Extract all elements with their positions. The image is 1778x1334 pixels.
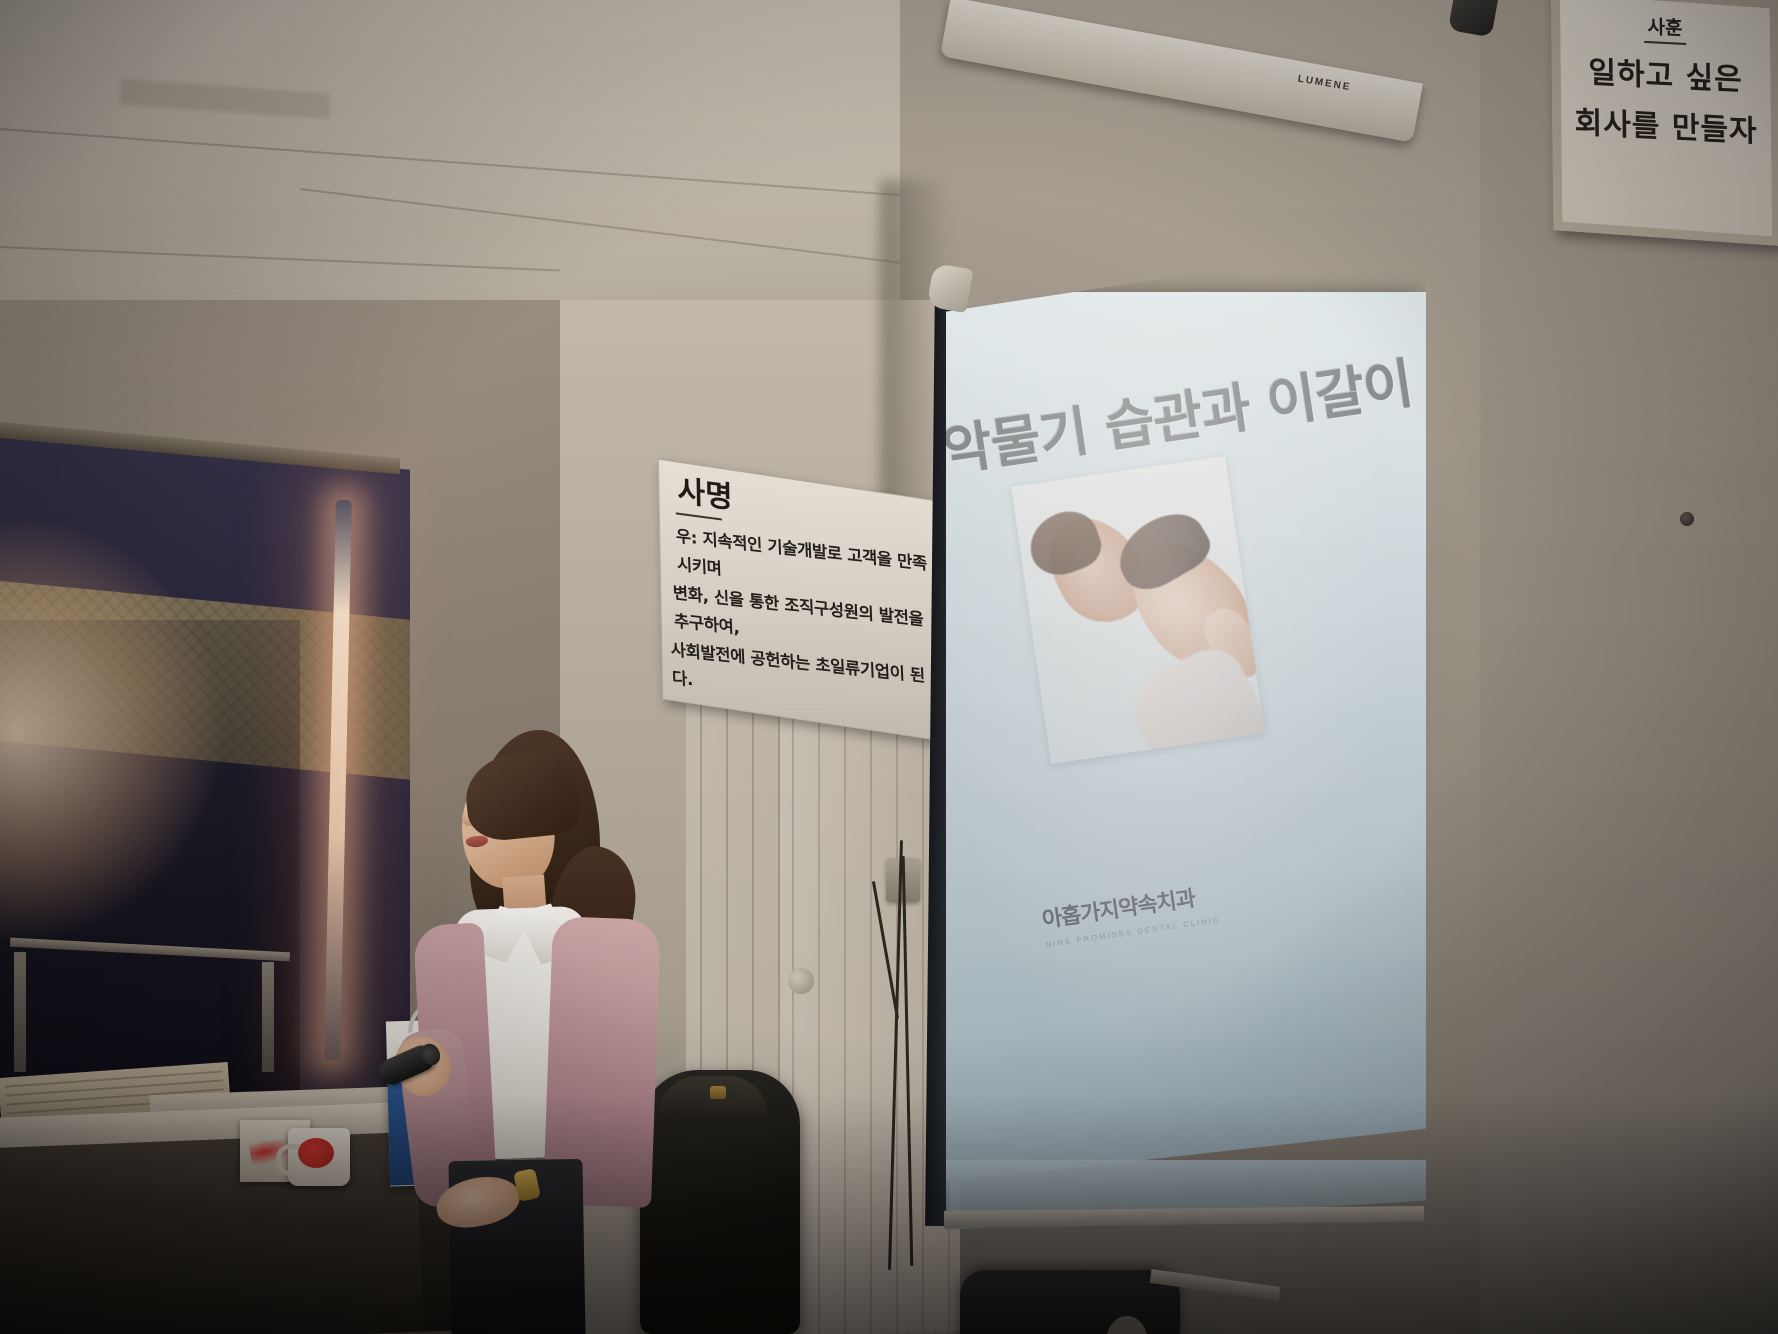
wall-fixture [1680, 512, 1694, 526]
ceiling-seam [0, 246, 560, 271]
ceiling-vent [119, 79, 330, 120]
company-motto-sign: 사훈 일하고 싶은 회사를 만들자 [1551, 0, 1778, 246]
window-glow [0, 520, 220, 940]
white-cup [288, 1128, 350, 1186]
presenter [400, 730, 660, 1334]
banner-heading: 사명 [677, 477, 733, 514]
motto-line-2: 회사를 만들자 [1561, 105, 1771, 150]
desk-body [0, 1132, 424, 1334]
desk-rail-leg [262, 962, 274, 1072]
slide-photo [1011, 456, 1265, 764]
mission-banner: 사명 우: 지속적인 기술개발로 고객을 만족시키며 변화, 신을 통한 조직구… [658, 459, 944, 742]
ceiling-seam [0, 128, 977, 202]
motto-line-1: 일하고 싶은 [1560, 55, 1770, 100]
photo-scene: 사명 우: 지속적인 기술개발로 고객을 만족시키며 변화, 신을 통한 조직구… [0, 0, 1778, 1334]
slide-content: 악물기 습관과 이갈이 아홉가지약속치과 NINE PROMISES DENTA… [946, 292, 1426, 1182]
chair [960, 1270, 1180, 1334]
wall-knob [788, 968, 814, 994]
desk-rail-leg [14, 952, 26, 1072]
motto-title: 사훈 [1643, 12, 1686, 45]
backpack [640, 1070, 800, 1334]
screen-brand-logo: LUMENE [1297, 73, 1352, 93]
slide-logo: 아홉가지약속치과 NINE PROMISES DENTAL CLINIC [1040, 870, 1274, 949]
banner-body: 우: 지속적인 기술개발로 고객을 만족시키며 변화, 신을 통한 조직구성원의… [676, 522, 937, 727]
